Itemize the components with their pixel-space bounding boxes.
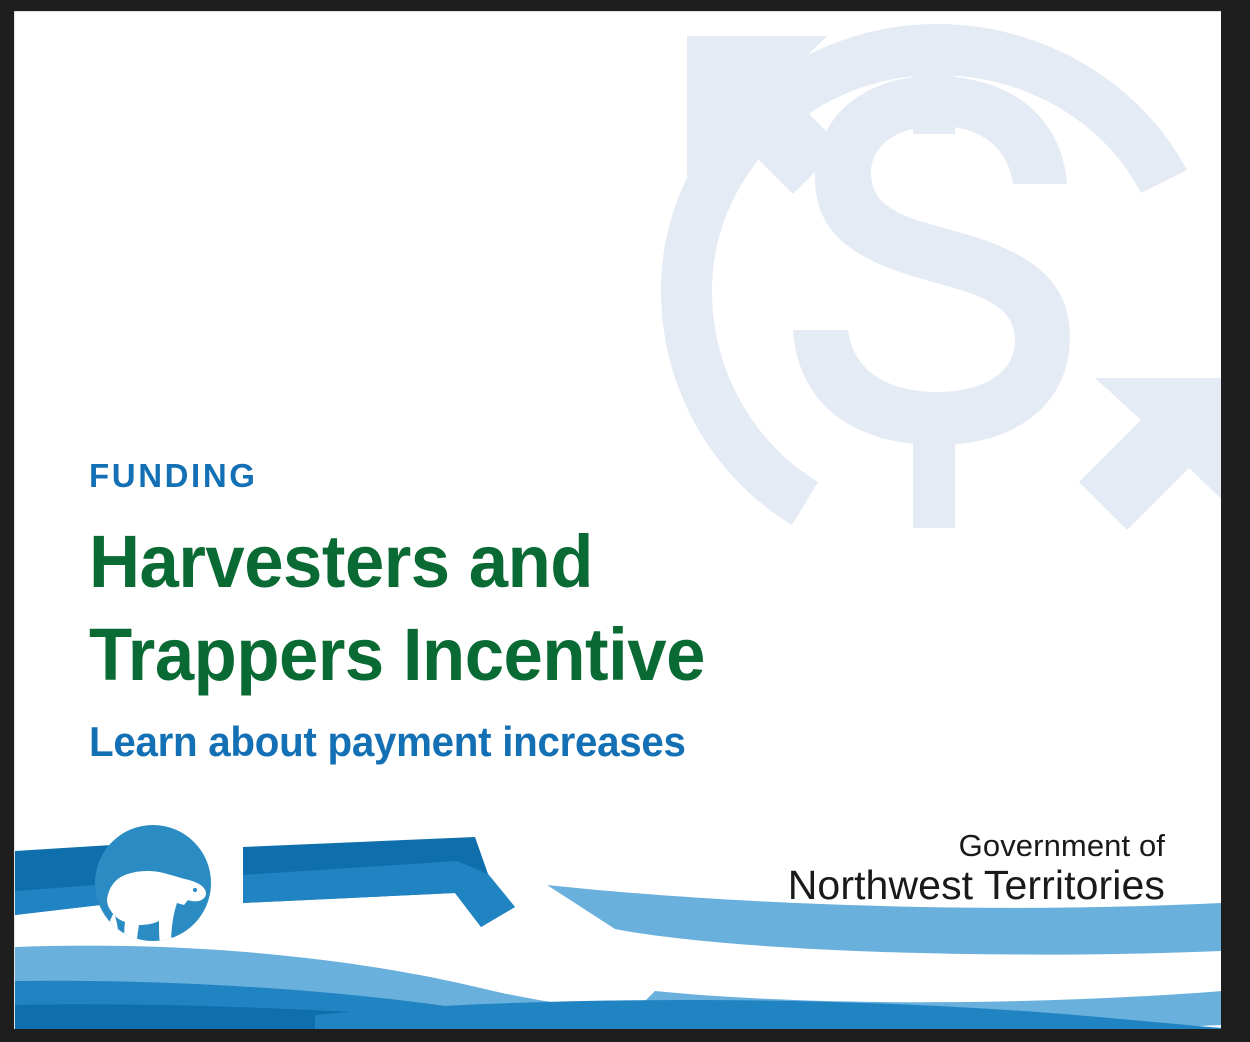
- page-title: Harvesters and Trappers Incentive: [89, 515, 872, 701]
- poster-text-block: FUNDING Harvesters and Trappers Incentiv…: [89, 459, 909, 766]
- wordmark-line-northwest-territories: Northwest Territories: [788, 863, 1165, 909]
- poster-frame: FUNDING Harvesters and Trappers Incentiv…: [0, 0, 1250, 1042]
- headline-line-1: Harvesters and: [89, 515, 872, 608]
- gnwt-wordmark: Government of Northwest Territories: [788, 829, 1165, 909]
- poster-canvas: FUNDING Harvesters and Trappers Incentiv…: [14, 11, 1221, 1029]
- eyebrow-label: FUNDING: [89, 459, 909, 492]
- subtitle: Learn about payment increases: [89, 719, 876, 765]
- polar-bear-logo-icon: [89, 821, 217, 949]
- wordmark-line-government-of: Government of: [788, 829, 1165, 862]
- headline-line-2: Trappers Incentive: [89, 608, 872, 701]
